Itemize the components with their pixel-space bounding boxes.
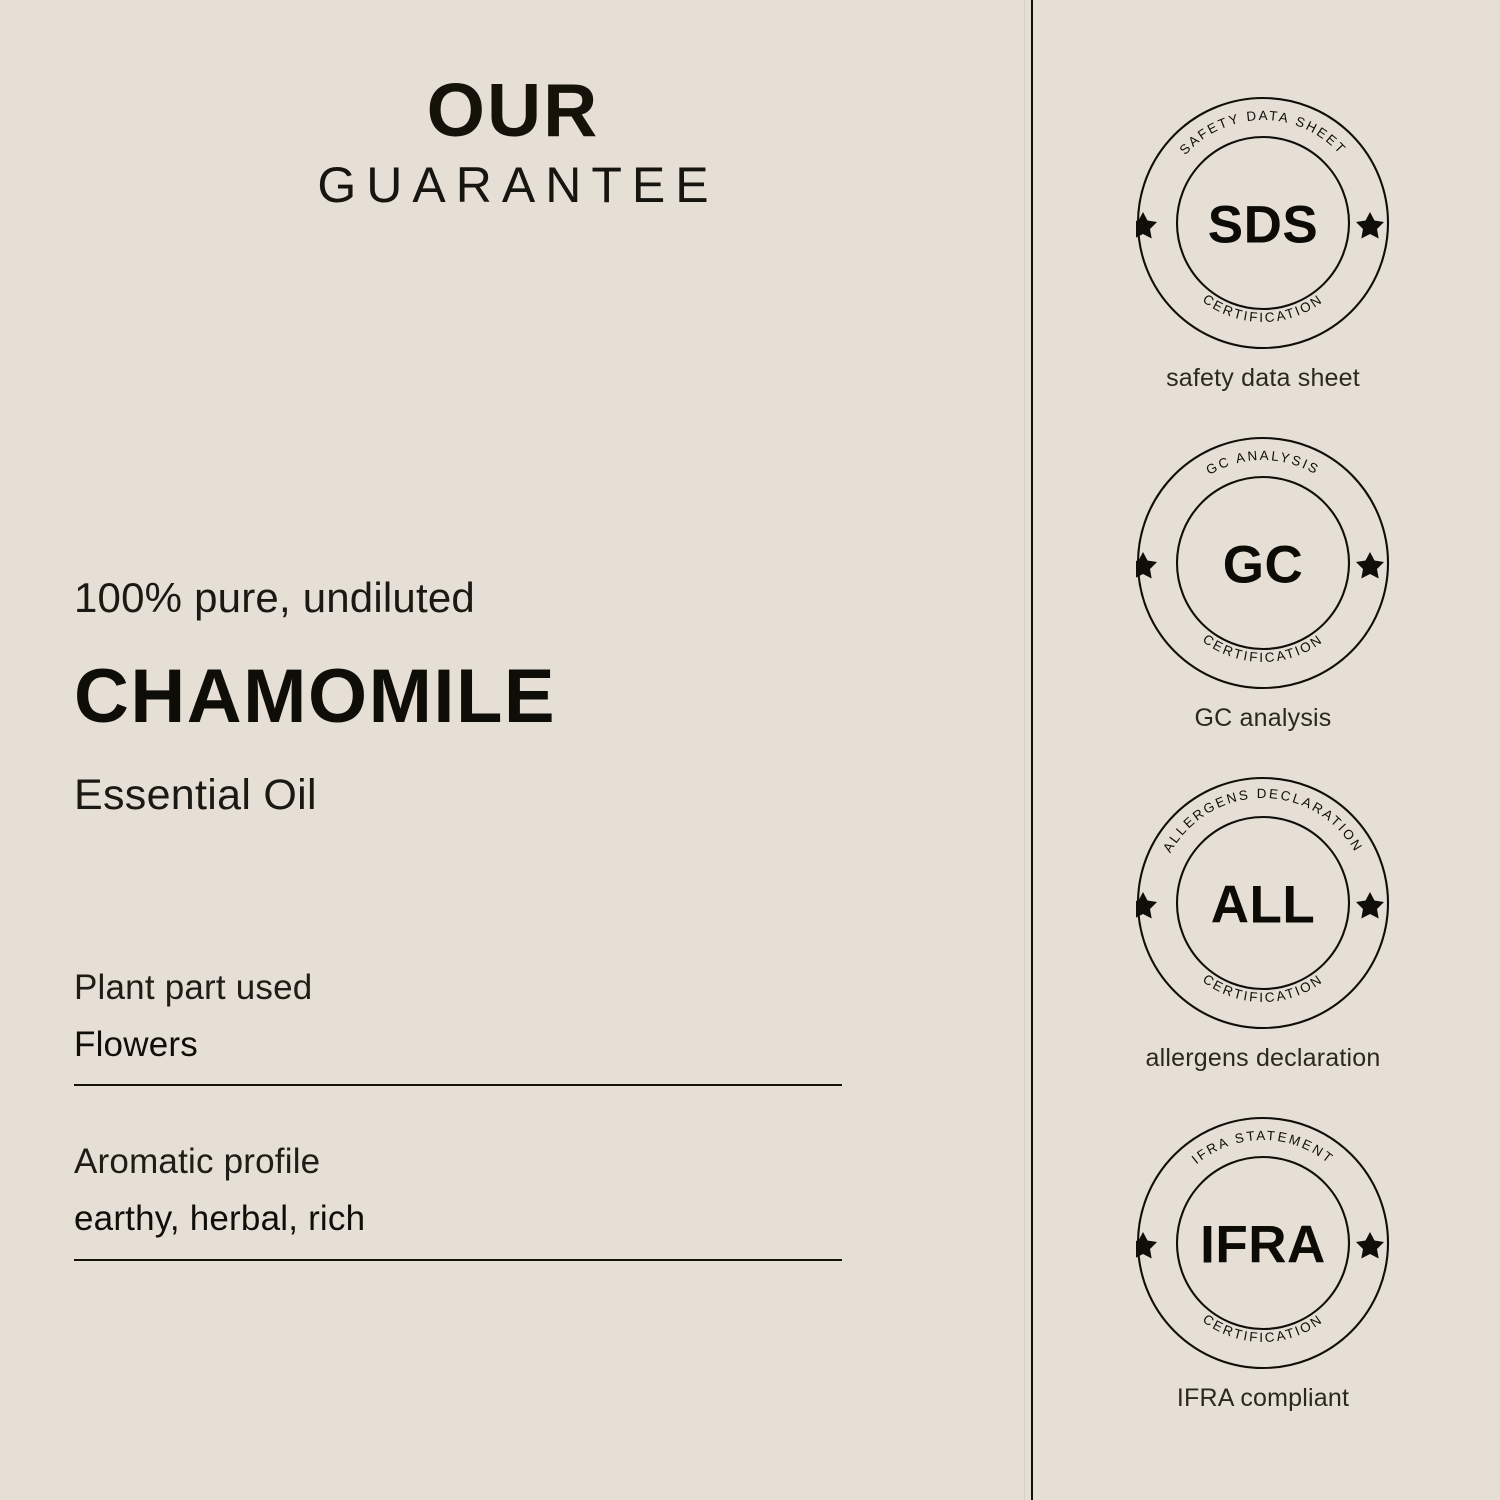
seal-icon-allergens: ALLERGENS DECLARATION CERTIFICATION ALL: [1136, 776, 1390, 1030]
seal-icon-sds: SAFETY DATA SHEET CERTIFICATION SDS: [1136, 96, 1390, 350]
spec-value: Flowers: [74, 1022, 842, 1068]
certification-badge-sds: SAFETY DATA SHEET CERTIFICATION SDS safe…: [1053, 96, 1473, 393]
spec-list: Plant part used Flowers Aromatic profile…: [74, 966, 842, 1261]
seal-arc-top-text: ALLERGENS DECLARATION: [1160, 786, 1366, 855]
badge-caption: GC analysis: [1195, 703, 1332, 733]
product-type: Essential Oil: [74, 770, 874, 822]
product-name: CHAMOMILE: [74, 651, 874, 744]
certification-badge-list: SAFETY DATA SHEET CERTIFICATION SDS safe…: [1026, 96, 1500, 1413]
spec-label: Aromatic profile: [74, 1140, 842, 1184]
star-icon-right: [1356, 1232, 1384, 1259]
seal-abbreviation: SDS: [1208, 196, 1318, 255]
certification-badge-gc: GC ANALYSIS CERTIFICATION GC GC analysis: [1053, 436, 1473, 733]
left-content-column: OUR GUARANTEE 100% pure, undiluted CHAMO…: [0, 0, 1026, 1500]
spec-row-aromatic-profile: Aromatic profile earthy, herbal, rich: [74, 1140, 842, 1260]
star-icon-right: [1356, 212, 1384, 239]
certification-badge-allergens: ALLERGENS DECLARATION CERTIFICATION ALL …: [1053, 776, 1473, 1073]
spec-divider: [74, 1259, 842, 1261]
product-identity: 100% pure, undiluted CHAMOMILE Essential…: [74, 572, 874, 822]
seal-icon-gc: GC ANALYSIS CERTIFICATION GC: [1136, 436, 1390, 690]
right-certification-column: SAFETY DATA SHEET CERTIFICATION SDS safe…: [1026, 0, 1500, 1500]
spec-label: Plant part used: [74, 966, 842, 1010]
product-purity-statement: 100% pure, undiluted: [74, 572, 874, 623]
star-icon-right: [1356, 892, 1384, 919]
page-title: OUR GUARANTEE: [0, 72, 1026, 221]
seal-icon-ifra: IFRA STATEMENT CERTIFICATION IFRA: [1136, 1116, 1390, 1370]
spec-row-plant-part: Plant part used Flowers: [74, 966, 842, 1086]
seal-arc-top-text: IFRA STATEMENT: [1189, 1128, 1337, 1167]
seal-arc-top-text: GC ANALYSIS: [1204, 448, 1323, 478]
seal-abbreviation: IFRA: [1200, 1216, 1326, 1275]
column-divider-soft-line: [1024, 0, 1025, 1500]
badge-caption: IFRA compliant: [1177, 1383, 1349, 1413]
star-icon-right: [1356, 552, 1384, 579]
spec-divider: [74, 1084, 842, 1086]
seal-abbreviation: ALL: [1211, 876, 1316, 935]
spec-value: earthy, herbal, rich: [74, 1196, 842, 1242]
seal-arc-top-text: SAFETY DATA SHEET: [1176, 108, 1349, 158]
guarantee-page: OUR GUARANTEE 100% pure, undiluted CHAMO…: [0, 0, 1500, 1500]
page-title-primary: OUR: [0, 72, 1026, 149]
page-title-secondary: GUARANTEE: [0, 149, 1026, 222]
certification-badge-ifra: IFRA STATEMENT CERTIFICATION IFRA IFRA c…: [1053, 1116, 1473, 1413]
badge-caption: safety data sheet: [1166, 363, 1360, 393]
seal-abbreviation: GC: [1223, 536, 1304, 595]
badge-caption: allergens declaration: [1146, 1043, 1381, 1073]
